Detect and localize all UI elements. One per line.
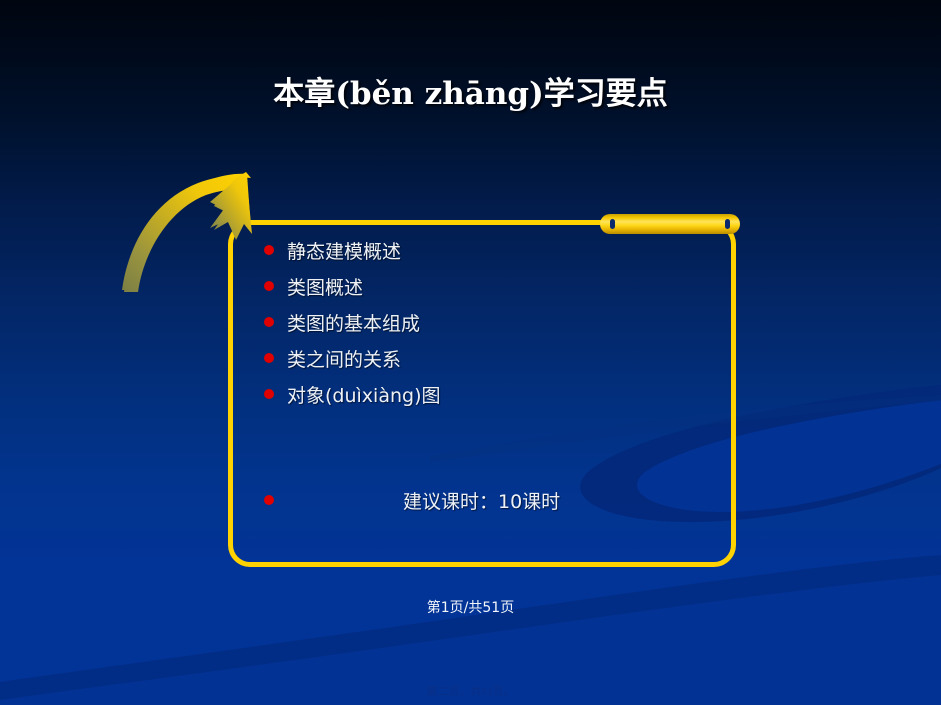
hours-label: 建议课时：10课时 (403, 487, 560, 514)
bullet-dot-icon (264, 353, 274, 363)
bullet-label: 对象(duìxiàng)图 (287, 381, 440, 408)
handle-bar-icon (600, 214, 740, 234)
handle-hole-left (610, 219, 615, 229)
list-item: 类之间的关系 (264, 340, 704, 376)
bullet-label: 类之间的关系 (287, 345, 401, 372)
bullet-dot-icon (264, 245, 274, 255)
list-item: 对象(duìxiàng)图 (264, 376, 704, 412)
bottom-page-note: 第二页，共51页。 (0, 683, 941, 699)
handle-hole-right (725, 219, 730, 229)
bullet-dot-icon (264, 281, 274, 291)
bullet-list: 静态建模概述 类图概述 类图的基本组成 类之间的关系 对象(duìxiàng)图… (264, 232, 704, 518)
list-item: 类图的基本组成 (264, 304, 704, 340)
bullet-dot-icon (264, 495, 274, 505)
bullet-label: 静态建模概述 (287, 237, 401, 264)
title-han-1: 本章 (273, 76, 335, 112)
list-item: 类图概述 (264, 268, 704, 304)
presentation-slide: 本章(běn zhāng)学习要点 静态建模概述 (0, 0, 941, 705)
bullet-label: 类图的基本组成 (287, 309, 420, 336)
title-han-2: 学习要点 (544, 76, 668, 112)
content-frame-top-edge (290, 220, 608, 225)
title-pinyin: (běn zhāng) (335, 76, 544, 112)
slide-title: 本章(běn zhāng)学习要点 (0, 68, 941, 113)
list-item-hours: 建议课时：10课时 (264, 482, 704, 518)
page-indicator: 第1页/共51页 (0, 597, 941, 617)
bullet-dot-icon (264, 317, 274, 327)
bullet-label: 类图概述 (287, 273, 363, 300)
list-item: 静态建模概述 (264, 232, 704, 268)
bullet-dot-icon (264, 389, 274, 399)
